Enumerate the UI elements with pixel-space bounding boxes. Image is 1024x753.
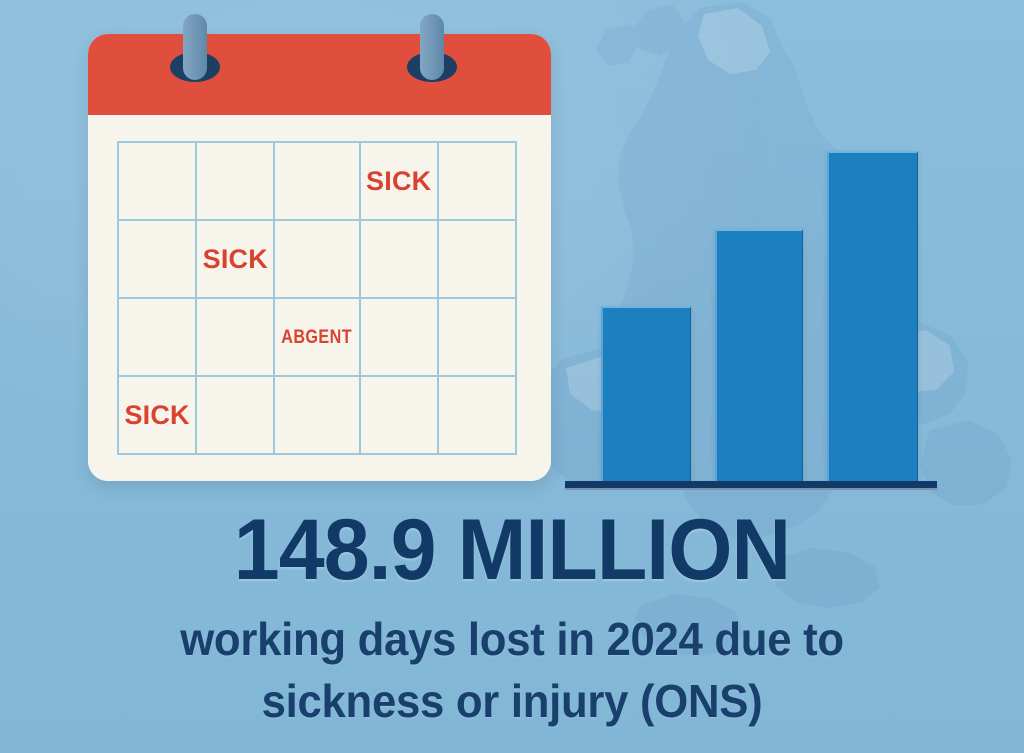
- calendar-cell[interactable]: [439, 377, 517, 455]
- binder-ring-left: [183, 14, 207, 80]
- calendar-cell[interactable]: [119, 221, 197, 299]
- calendar-cell[interactable]: [439, 221, 517, 299]
- calendar-cell[interactable]: SICK: [197, 221, 275, 299]
- calendar-cell[interactable]: [275, 143, 360, 221]
- chart-bar-2: [715, 229, 803, 483]
- chart-baseline: [565, 481, 937, 490]
- calendar-cell-label: SICK: [124, 402, 189, 429]
- calendar-cell[interactable]: [439, 299, 517, 377]
- calendar-cell[interactable]: [119, 143, 197, 221]
- subtitle-line-2: sickness or injury (ONS): [26, 675, 999, 727]
- infographic-canvas: SICKSICKABGENTSICK 148.9 MILLION working…: [0, 0, 1024, 753]
- calendar-cell[interactable]: [119, 299, 197, 377]
- bar-chart: [560, 130, 960, 495]
- calendar-cell[interactable]: SICK: [119, 377, 197, 455]
- calendar-cell[interactable]: [197, 143, 275, 221]
- binder-ring-right: [420, 14, 444, 80]
- calendar-cell[interactable]: [361, 377, 439, 455]
- calendar-cell[interactable]: ABGENT: [275, 299, 360, 377]
- calendar-cell-label: SICK: [366, 168, 431, 195]
- chart-bar-3: [827, 151, 918, 483]
- calendar-cell[interactable]: SICK: [361, 143, 439, 221]
- calendar-cell[interactable]: [275, 377, 360, 455]
- calendar-cell[interactable]: [197, 299, 275, 377]
- calendar-cell[interactable]: [275, 221, 360, 299]
- calendar-cell[interactable]: [439, 143, 517, 221]
- subtitle-line-1: working days lost in 2024 due to: [26, 613, 999, 665]
- headline-figure: 148.9 MILLION: [20, 505, 1003, 595]
- calendar-cell[interactable]: [361, 299, 439, 377]
- calendar-cell[interactable]: [361, 221, 439, 299]
- calendar-header-band: [88, 34, 551, 115]
- calendar-cell-label: SICK: [203, 246, 268, 273]
- calendar-grid: SICKSICKABGENTSICK: [117, 141, 517, 455]
- calendar-cell[interactable]: [197, 377, 275, 455]
- chart-bar-1: [601, 306, 691, 483]
- calendar-cell-label: ABGENT: [282, 328, 353, 347]
- wall-calendar: SICKSICKABGENTSICK: [88, 34, 551, 481]
